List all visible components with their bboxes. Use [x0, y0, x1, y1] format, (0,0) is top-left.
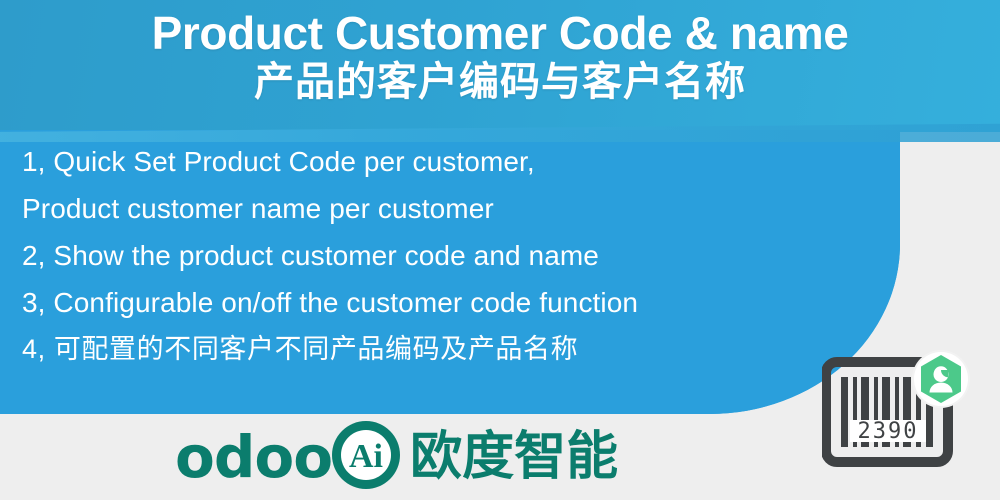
- barcode-customer-icon: 2390: [822, 348, 982, 468]
- feature-line-2: Product customer name per customer: [22, 185, 862, 232]
- feature-line-4: 3, Configurable on/off the customer code…: [22, 279, 862, 326]
- brand-logo: odoo Ai 欧度智能: [175, 422, 618, 492]
- brand-ai-mark-icon: Ai: [328, 417, 404, 498]
- header: Product Customer Code & name 产品的客户编码与客户名…: [0, 0, 1000, 128]
- feature-line-3: 2, Show the product customer code and na…: [22, 232, 862, 279]
- barcode-digits: 2390: [858, 419, 919, 444]
- feature-line-1: 1, Quick Set Product Code per customer,: [22, 138, 862, 185]
- page-title-cn: 产品的客户编码与客户名称: [0, 58, 1000, 104]
- brand-odoo-wordmark: odoo: [175, 428, 332, 486]
- feature-line-5: 4, 可配置的不同客户不同产品编码及产品名称: [22, 326, 862, 373]
- ai-mark-label: Ai: [349, 438, 383, 475]
- promo-banner: Product Customer Code & name 产品的客户编码与客户名…: [0, 0, 1000, 500]
- brand-chinese-name: 欧度智能: [410, 431, 618, 483]
- page-title-en: Product Customer Code & name: [0, 0, 1000, 58]
- feature-list: 1, Quick Set Product Code per customer, …: [22, 138, 862, 373]
